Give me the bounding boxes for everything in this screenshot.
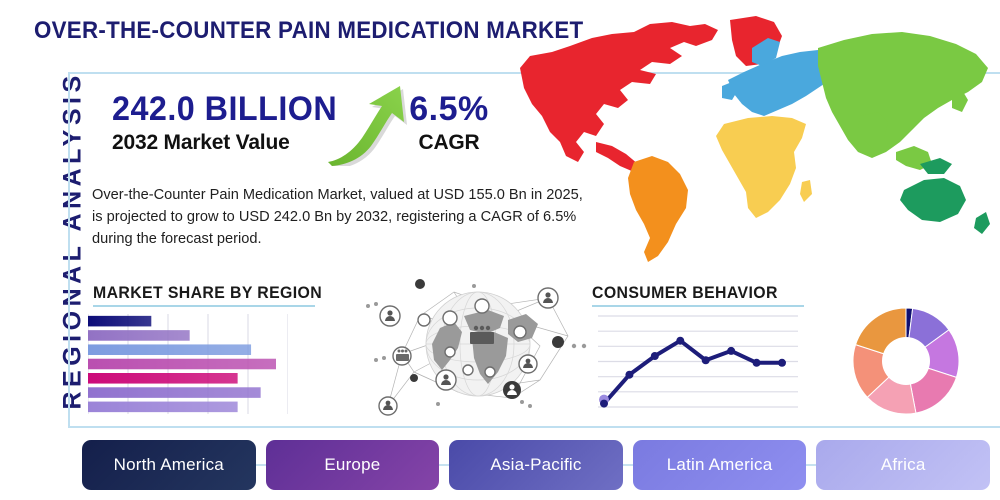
region-button-north-america[interactable]: North America xyxy=(82,440,256,490)
map-region-oceania xyxy=(900,178,966,222)
consumer-behavior-line-chart xyxy=(598,310,798,415)
market-share-bar-chart xyxy=(88,314,288,414)
map-region-south-america xyxy=(628,156,688,262)
map-region-madagascar xyxy=(800,180,812,202)
line-marker-1 xyxy=(600,400,608,408)
line-marker-4 xyxy=(676,337,684,345)
consumer-behavior-heading: CONSUMER BEHAVIOR xyxy=(592,284,778,303)
building-glyph-2 xyxy=(396,350,409,362)
region-button-bar[interactable]: North AmericaEuropeAsia-PacificLatin Ame… xyxy=(82,440,990,490)
market-share-rule xyxy=(93,305,315,307)
market-value-block: 242.0 BILLION 2032 Market Value xyxy=(112,92,349,155)
bar-3 xyxy=(88,344,251,355)
bar-7 xyxy=(88,402,238,413)
market-value-number: 242.0 BILLION xyxy=(112,92,337,128)
consumer-behavior-rule xyxy=(592,305,804,307)
cagr-label: CAGR xyxy=(404,131,494,155)
donut-hole xyxy=(882,337,930,385)
line-marker-2 xyxy=(625,371,633,379)
market-value-label: 2032 Market Value xyxy=(112,131,349,155)
region-button-asia-pacific[interactable]: Asia-Pacific xyxy=(449,440,623,490)
bar-4 xyxy=(88,359,276,370)
infographic-canvas: OVER-THE-COUNTER PAIN MEDICATION MARKET … xyxy=(0,0,1000,500)
region-button-label: Latin America xyxy=(667,455,773,475)
line-marker-6 xyxy=(727,347,735,355)
donut-chart xyxy=(853,308,959,414)
map-region-central-america xyxy=(596,142,638,172)
region-button-label: North America xyxy=(114,455,224,475)
line-marker-5 xyxy=(702,356,710,364)
bar-6 xyxy=(88,387,261,398)
market-share-heading: MARKET SHARE BY REGION xyxy=(93,284,322,303)
region-button-label: Asia-Pacific xyxy=(490,455,581,475)
line-chart-markers xyxy=(599,337,786,408)
cagr-value: 6.5% xyxy=(404,92,494,128)
map-region-africa xyxy=(716,116,806,218)
cagr-block: 6.5% CAGR xyxy=(404,92,494,155)
line-marker-8 xyxy=(778,359,786,367)
globe-network-icon xyxy=(362,276,594,418)
region-button-label: Europe xyxy=(324,455,380,475)
region-button-latin-america[interactable]: Latin America xyxy=(633,440,807,490)
line-marker-7 xyxy=(753,359,761,367)
region-button-africa[interactable]: Africa xyxy=(816,440,990,490)
map-region-new-zealand xyxy=(974,212,990,234)
bar-2 xyxy=(88,330,190,341)
map-region-north-america xyxy=(520,22,718,162)
region-button-europe[interactable]: Europe xyxy=(266,440,440,490)
line-marker-3 xyxy=(651,352,659,360)
region-button-label: Africa xyxy=(881,455,926,475)
growth-arrow-icon xyxy=(322,82,408,166)
bar-5 xyxy=(88,373,238,384)
world-map-icon xyxy=(500,12,1000,270)
bar-1 xyxy=(88,316,151,327)
